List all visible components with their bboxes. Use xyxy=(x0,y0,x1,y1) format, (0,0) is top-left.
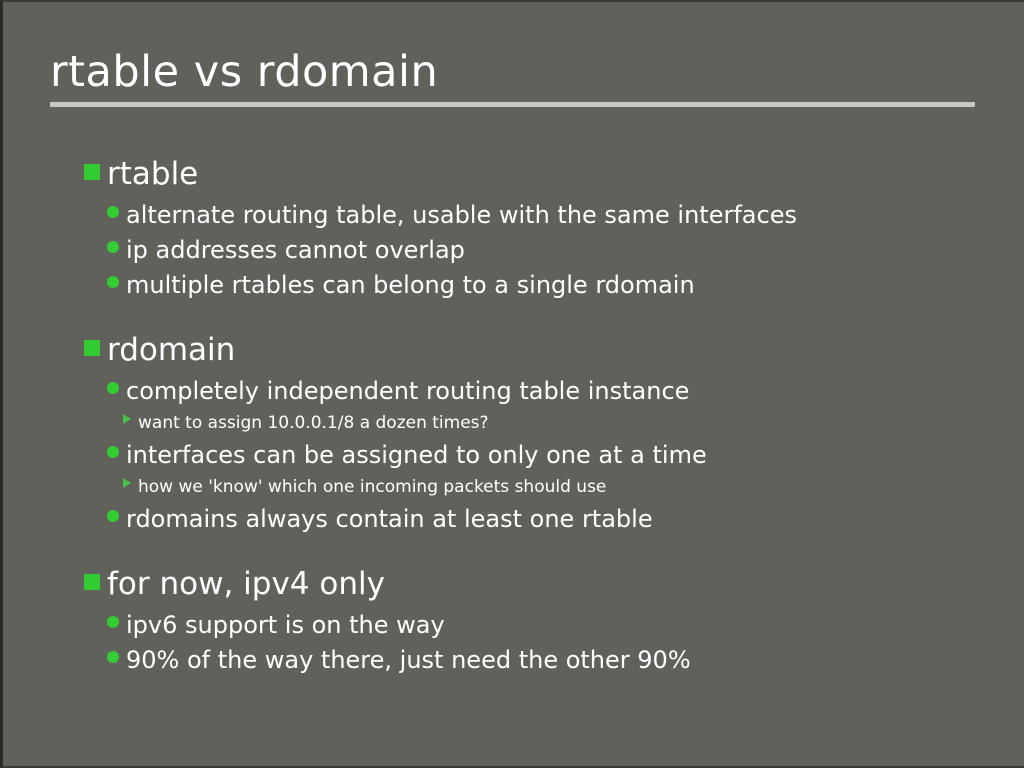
title-underline-rule xyxy=(50,102,975,107)
outline-subitem-label: want to assign 10.0.0.1/8 a dozen times? xyxy=(138,410,489,437)
outline-subitem-row: how we 'know' which one incoming packets… xyxy=(121,472,981,501)
outline-heading-label: rdomain xyxy=(107,331,235,369)
outline-item-row: multiple rtables can belong to a single … xyxy=(104,267,981,302)
outline-item-row: completely independent routing table ins… xyxy=(104,373,981,408)
green-square-bullet-icon xyxy=(81,154,107,184)
outline-group: rtable alternate routing table, usable w… xyxy=(81,154,981,302)
green-dot-bullet-icon xyxy=(104,437,126,463)
green-triangle-bullet-icon xyxy=(121,472,138,492)
outline-heading-row: rtable xyxy=(81,154,981,193)
outline-subitem-row: want to assign 10.0.0.1/8 a dozen times? xyxy=(121,408,981,437)
page-title: rtable vs rdomain xyxy=(50,46,975,98)
outline-item-row: 90% of the way there, just need the othe… xyxy=(104,642,981,677)
outline-item-row: ipv6 support is on the way xyxy=(104,607,981,642)
green-dot-bullet-icon xyxy=(104,642,126,668)
green-dot-bullet-icon xyxy=(104,267,126,293)
outline-item-label: interfaces can be assigned to only one a… xyxy=(126,438,707,472)
outline-item-label: alternate routing table, usable with the… xyxy=(126,198,797,232)
green-square-bullet-icon xyxy=(81,330,107,360)
green-dot-bullet-icon xyxy=(104,607,126,633)
slide-outline: rtable alternate routing table, usable w… xyxy=(81,154,981,677)
outline-heading-label: for now, ipv4 only xyxy=(107,565,385,603)
presentation-slide: rtable vs rdomain rtable alternate routi… xyxy=(0,0,1024,768)
outline-heading-label: rtable xyxy=(107,155,198,193)
outline-item-label: ip addresses cannot overlap xyxy=(126,233,465,267)
outline-item-label: ipv6 support is on the way xyxy=(126,608,445,642)
title-block: rtable vs rdomain xyxy=(50,46,975,107)
green-dot-bullet-icon xyxy=(104,232,126,258)
outline-heading-row: for now, ipv4 only xyxy=(81,564,981,603)
outline-group: rdomain completely independent routing t… xyxy=(81,330,981,536)
outline-item-label: 90% of the way there, just need the othe… xyxy=(126,643,691,677)
green-triangle-bullet-icon xyxy=(121,408,138,428)
green-dot-bullet-icon xyxy=(104,373,126,399)
outline-item-label: rdomains always contain at least one rta… xyxy=(126,502,653,536)
outline-subitem-label: how we 'know' which one incoming packets… xyxy=(138,474,606,501)
outline-item-row: ip addresses cannot overlap xyxy=(104,232,981,267)
outline-item-label: multiple rtables can belong to a single … xyxy=(126,268,695,302)
green-dot-bullet-icon xyxy=(104,501,126,527)
green-square-bullet-icon xyxy=(81,564,107,594)
outline-item-row: alternate routing table, usable with the… xyxy=(104,197,981,232)
green-dot-bullet-icon xyxy=(104,197,126,223)
outline-item-label: completely independent routing table ins… xyxy=(126,374,689,408)
outline-group: for now, ipv4 only ipv6 support is on th… xyxy=(81,564,981,677)
outline-item-row: rdomains always contain at least one rta… xyxy=(104,501,981,536)
outline-heading-row: rdomain xyxy=(81,330,981,369)
outline-item-row: interfaces can be assigned to only one a… xyxy=(104,437,981,472)
